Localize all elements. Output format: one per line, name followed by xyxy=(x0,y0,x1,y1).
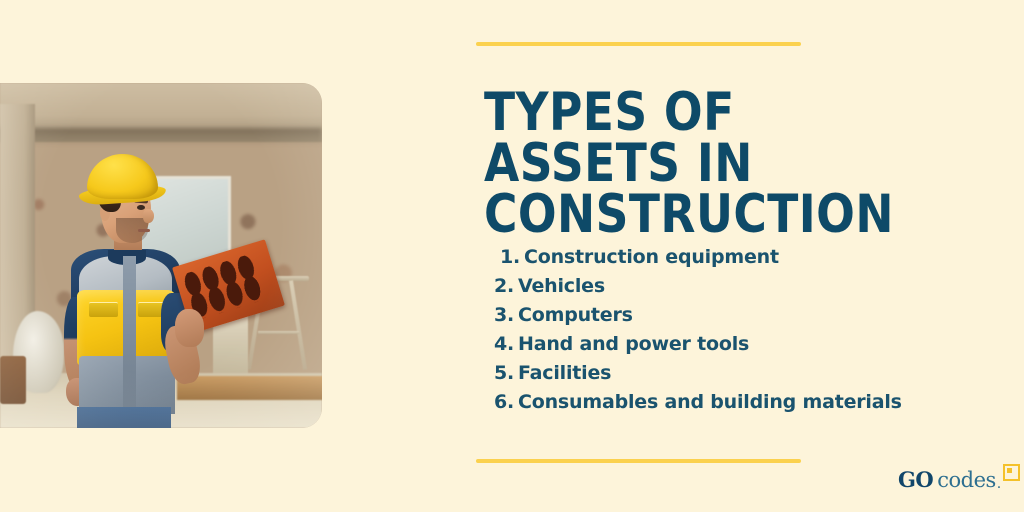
content-column: Types of assets inConstruction 1. Constr… xyxy=(476,0,1024,512)
list-item-label: Construction equipment xyxy=(524,246,779,268)
list-item-number: 2. xyxy=(490,275,514,297)
list-item: 5. Facilities xyxy=(490,362,902,391)
logo-trademark: . xyxy=(997,476,1001,492)
page-title-line-1: Types of assets in xyxy=(484,82,753,194)
list-item-number: 4. xyxy=(490,333,514,355)
logo-square-badge-icon xyxy=(1003,464,1020,481)
photo-vignette xyxy=(0,83,322,428)
page-title: Types of assets inConstruction xyxy=(484,88,888,241)
divider-bottom xyxy=(476,459,801,463)
list-item-label: Consumables and building materials xyxy=(518,391,902,413)
list-item: 3. Computers xyxy=(490,304,902,333)
gocodes-logo[interactable]: GO codes . xyxy=(898,462,1020,492)
list-item-label: Computers xyxy=(518,304,633,326)
logo-go-text: GO xyxy=(898,467,933,492)
list-item: 1. Construction equipment xyxy=(490,246,902,275)
list-item-number: 3. xyxy=(490,304,514,326)
infographic-slide: Types of assets inConstruction 1. Constr… xyxy=(0,0,1024,512)
list-item: 4. Hand and power tools xyxy=(490,333,902,362)
asset-types-list: 1. Construction equipment 2. Vehicles 3.… xyxy=(490,246,902,420)
divider-top xyxy=(476,42,801,46)
list-item-label: Hand and power tools xyxy=(518,333,749,355)
list-item: 2. Vehicles xyxy=(490,275,902,304)
list-item-label: Facilities xyxy=(518,362,611,384)
list-item-number: 1. xyxy=(496,246,520,268)
list-item-number: 5. xyxy=(490,362,514,384)
list-item-label: Vehicles xyxy=(518,275,605,297)
logo-codes-text: codes xyxy=(937,468,996,492)
construction-worker-photo xyxy=(0,83,322,428)
list-item-number: 6. xyxy=(490,391,514,413)
list-item: 6. Consumables and building materials xyxy=(490,391,902,420)
page-title-line-2: Construction xyxy=(484,184,894,245)
